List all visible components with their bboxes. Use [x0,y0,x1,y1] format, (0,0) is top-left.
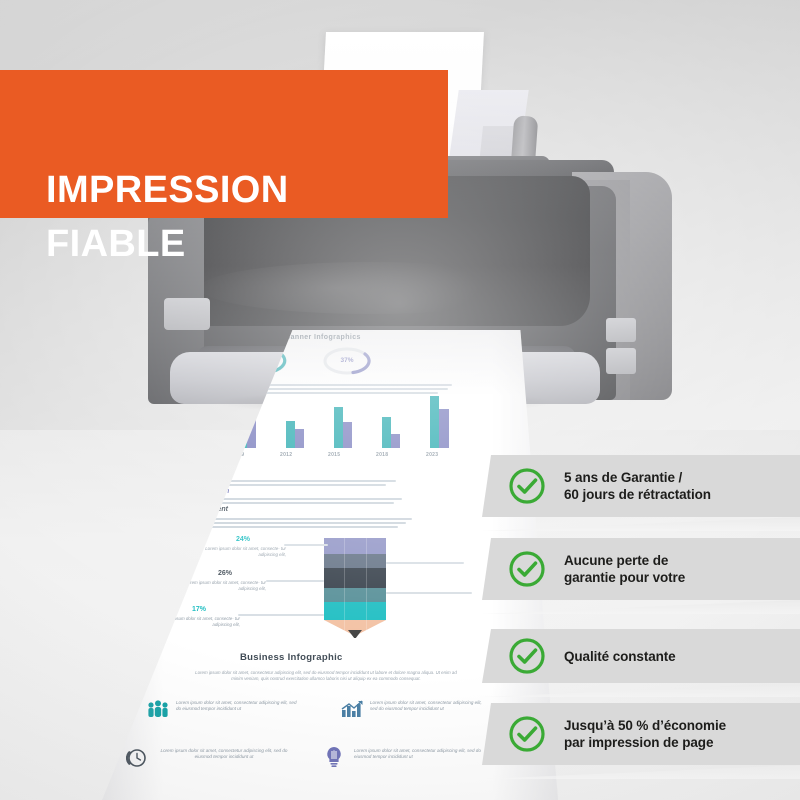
feature-card-2[interactable]: Aucune perte de garantie pour votre [482,538,800,600]
feature-card-3[interactable]: Qualité constante [482,629,800,683]
feature-card-1-text: 5 ans de Garantie / 60 jours de rétracta… [564,469,711,503]
check-circle-icon [508,715,546,753]
feature-card-2-line2: garantie pour votre [564,570,685,585]
feature-card-1-line2: 60 jours de rétractation [564,487,711,502]
feature-card-2-wedge [482,600,800,614]
feature-card-4-line1: Jusqu’à 50 % d’économie [564,718,726,733]
feature-card-1-line1: 5 ans de Garantie / [564,470,682,485]
feature-card-4-wedge [482,765,800,779]
headline-line-2: FIABLE [46,222,186,266]
feature-card-4-text: Jusqu’à 50 % d’économie par impression d… [564,717,726,751]
feature-card-1-wedge [482,517,800,531]
feature-card-1[interactable]: 5 ans de Garantie / 60 jours de rétracta… [482,455,800,517]
check-circle-icon [508,550,546,588]
headline-line-1: IMPRESSION [46,168,289,212]
feature-card-3-wedge [482,683,800,697]
feature-card-4[interactable]: Jusqu’à 50 % d’économie par impression d… [482,703,800,765]
feature-card-2-line1: Aucune perte de [564,553,668,568]
headline-banner: IMPRESSION FIABLE [0,70,448,218]
check-circle-icon [508,467,546,505]
poster-stage: Banner Infographics 35% 37% [0,0,800,800]
check-circle-icon [508,637,546,675]
feature-card-3-text: Qualité constante [564,648,676,665]
feature-card-2-text: Aucune perte de garantie pour votre [564,552,685,586]
feature-card-4-line2: par impression de page [564,735,713,750]
